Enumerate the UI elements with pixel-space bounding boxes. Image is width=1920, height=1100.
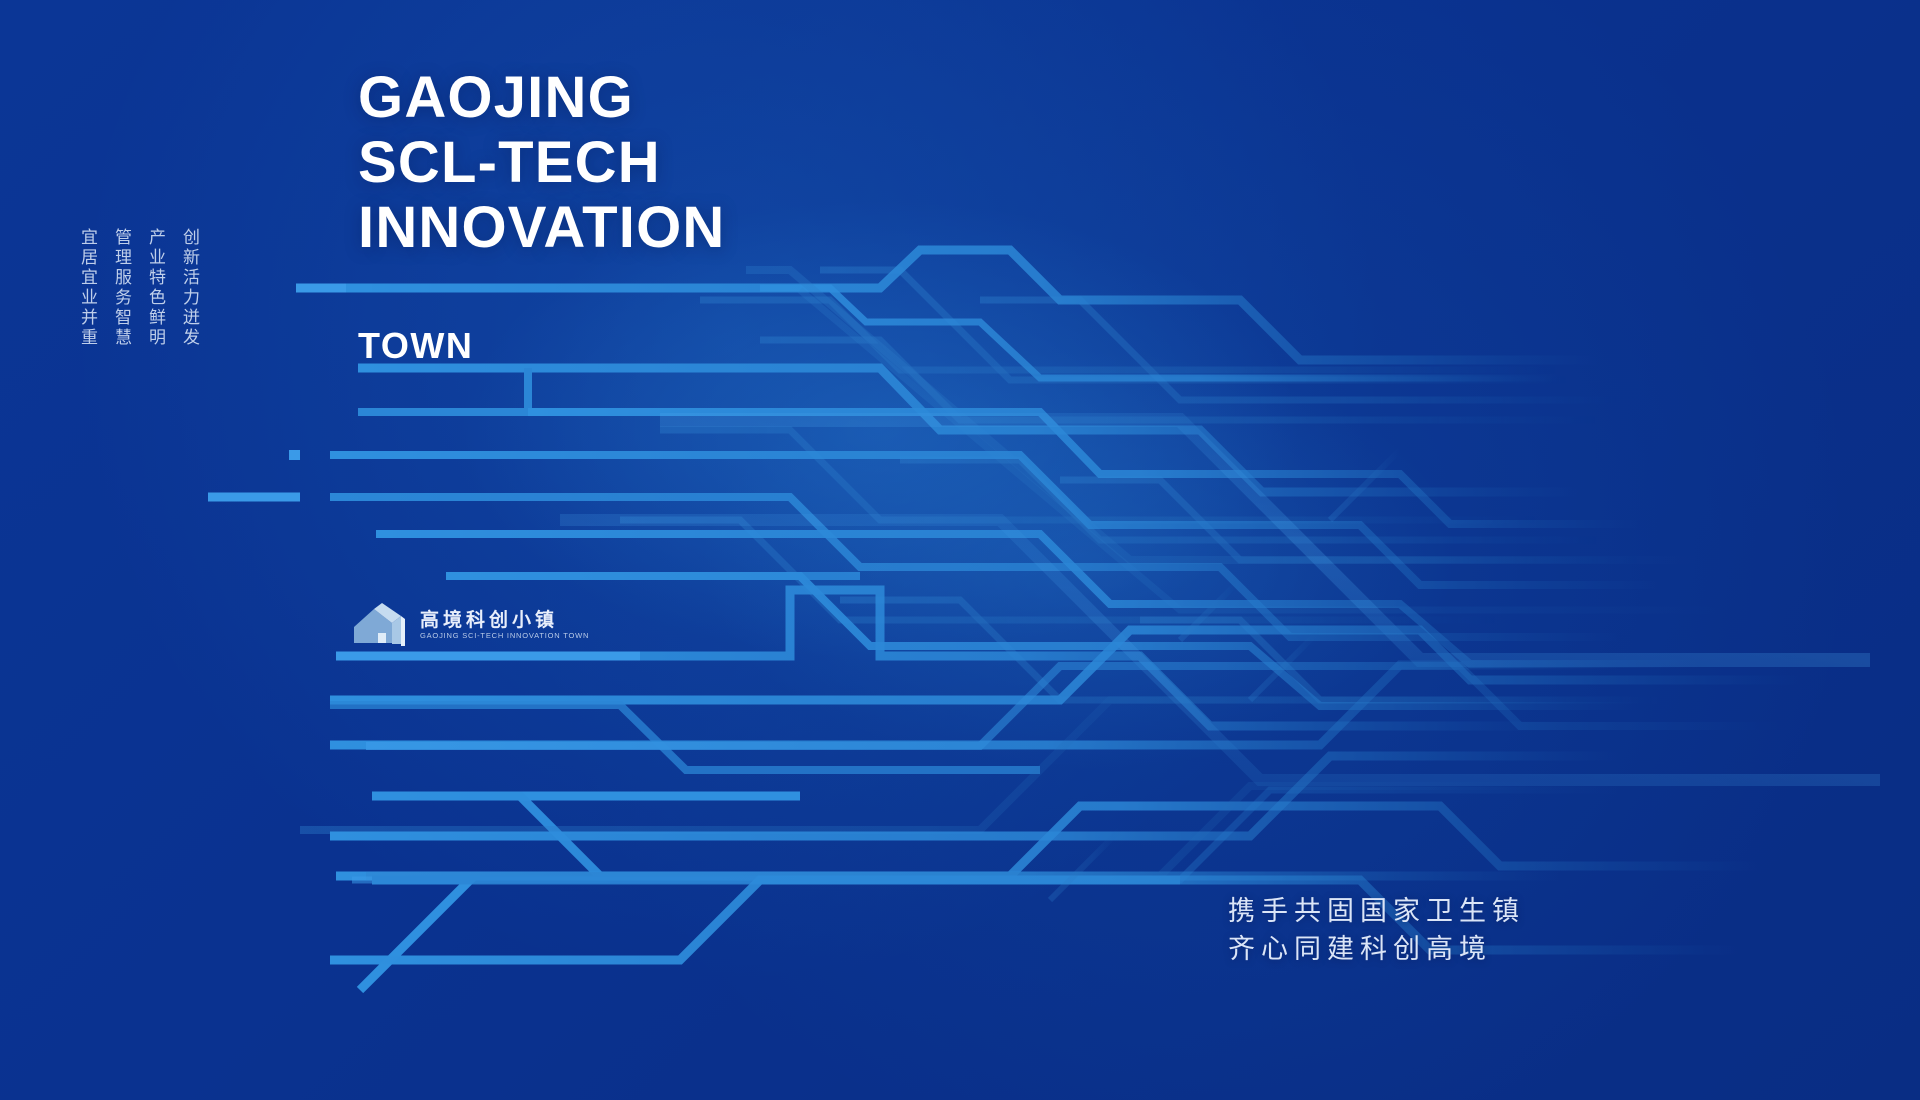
circuit-line-artwork bbox=[0, 0, 1920, 1100]
page-title: GAOJING SCL-TECH INNOVATION bbox=[358, 66, 726, 261]
page-subtitle: TOWN bbox=[358, 325, 473, 367]
vertical-slogan-line-3: 管理服务智慧 bbox=[112, 228, 129, 418]
vertical-slogan-line-4: 宜居宜业并重 bbox=[78, 228, 95, 418]
bottom-slogan-line-2: 齐心同建科创高境 bbox=[1228, 931, 1525, 969]
logo-english-name: GAOJING SCI-TECH INNOVATION TOWN bbox=[420, 632, 589, 640]
brand-logo: 高境科创小镇 GAOJING SCI-TECH INNOVATION TOWN bbox=[352, 603, 589, 647]
bottom-slogan: 携手共固国家卫生镇 齐心同建科创高境 bbox=[1228, 893, 1525, 970]
logo-chinese-name: 高境科创小镇 bbox=[420, 611, 589, 630]
vertical-slogan-line-1: 创新活力迸发 bbox=[180, 228, 197, 418]
vertical-slogan: 创新活力迸发 产业特色鲜明 管理服务智慧 宜居宜业并重 bbox=[78, 228, 197, 418]
bottom-slogan-line-1: 携手共固国家卫生镇 bbox=[1228, 893, 1525, 931]
logo-wordmark: 高境科创小镇 GAOJING SCI-TECH INNOVATION TOWN bbox=[420, 611, 589, 640]
house-building-icon bbox=[352, 603, 410, 647]
poster-canvas: GAOJING SCL-TECH INNOVATION TOWN 创新活力迸发 … bbox=[0, 0, 1920, 1100]
vertical-slogan-line-2: 产业特色鲜明 bbox=[146, 228, 163, 418]
